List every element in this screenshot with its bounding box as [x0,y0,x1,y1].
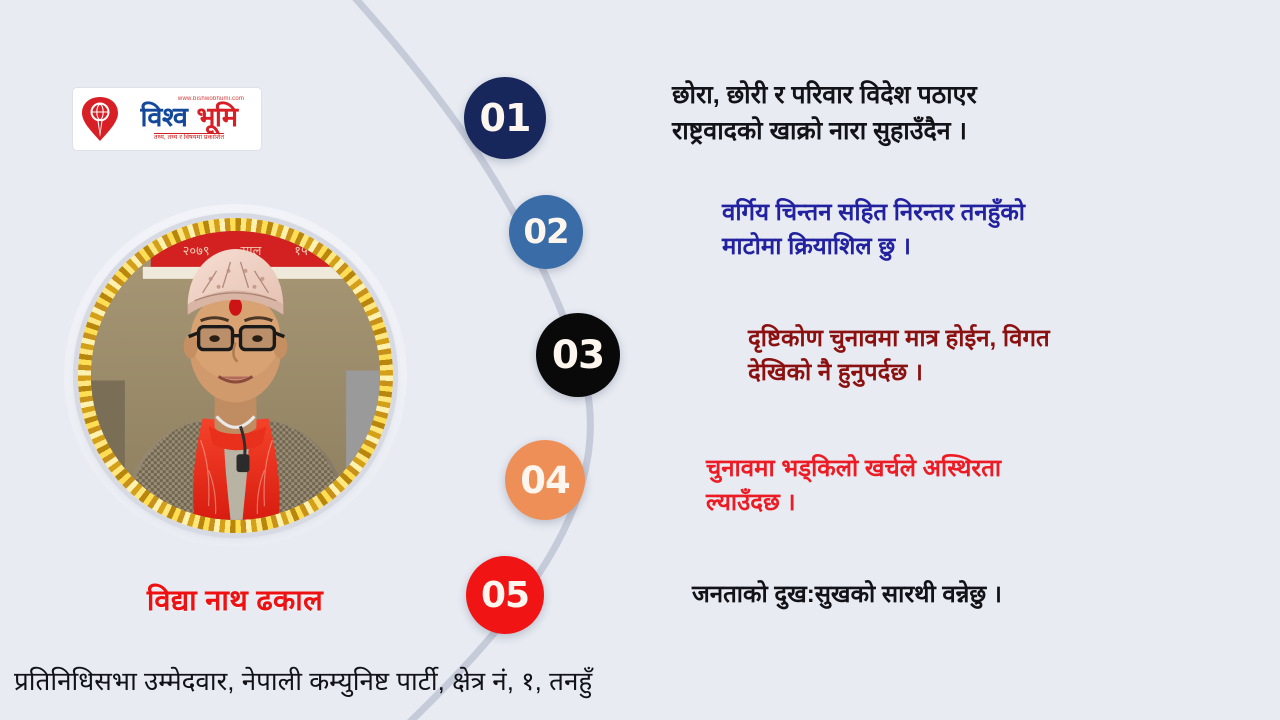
logo-globe-pen-icon [79,95,121,143]
statement-line-1: चुनावमा भड्किलो खर्चले अस्थिरता [706,452,1001,486]
statement-01: छोरा, छोरी र परिवार विदेश पठाएरराष्ट्रवा… [672,78,977,149]
timeline-node-03[interactable]: 03 [536,313,620,397]
statement-04: चुनावमा भड्किलो खर्चले अस्थिरताल्याउँदछ … [706,452,1001,520]
statement-line-2: राष्ट्रवादको खाक्रो नारा सुहाउँदैन । [672,114,977,150]
candidate-photo: २०७९साल१५ [91,231,380,520]
statement-03: दृष्टिकोण चुनावमा मात्र होईन, विगतदेखिको… [748,322,1050,390]
statement-line-2: देखिको नै हुनुपर्दछ । [748,356,1050,390]
site-logo[interactable]: www.bishwobhumi.com विश्व भूमि तथ्य, तथ्… [73,88,261,150]
timeline-node-label: 02 [523,212,568,252]
statement-line-1: छोरा, छोरी र परिवार विदेश पठाएर [672,78,977,114]
timeline-node-04[interactable]: 04 [505,440,585,520]
statement-line-1: वर्गिय चिन्तन सहित निरन्तर तनहुँको [722,196,1025,230]
logo-word-bhumi: भूमि [196,104,237,131]
timeline-node-label: 05 [481,575,529,616]
logo-url: www.bishwobhumi.com [178,96,244,104]
statement-05: जनताको दुख:सुखको सारथी वन्नेछु । [692,578,1002,612]
statement-line-1: जनताको दुख:सुखको सारथी वन्नेछु । [692,578,1002,612]
timeline-node-05[interactable]: 05 [466,556,544,634]
timeline-node-01[interactable]: 01 [464,77,546,159]
infographic-canvas: www.bishwobhumi.com विश्व भूमि तथ्य, तथ्… [0,0,1280,720]
logo-word-bishwo: विश्व [140,104,187,131]
candidate-portrait: २०७९साल१५ [78,218,393,533]
timeline-node-label: 01 [480,96,531,140]
logo-tagline: तथ्य, तथ्य र विषयमा प्रकाशित [154,133,224,142]
statement-line-2: माटोमा क्रियाशिल छु । [722,230,1025,264]
timeline-node-label: 04 [520,459,570,502]
candidate-designation: प्रतिनिधिसभा उम्मेदवार, नेपाली कम्युनिष्… [14,662,592,698]
candidate-name: विद्या नाथ ढकाल [0,580,470,619]
statement-02: वर्गिय चिन्तन सहित निरन्तर तनहुँकोमाटोमा… [722,196,1025,264]
portrait-photo-frame: २०७९साल१५ [91,231,380,520]
statement-line-2: ल्याउँदछ । [706,486,1001,520]
timeline-node-label: 03 [552,333,604,378]
svg-text:१५: १५ [294,244,308,259]
svg-text:२०७९: २०७९ [183,244,210,259]
statement-line-1: दृष्टिकोण चुनावमा मात्र होईन, विगत [748,322,1050,356]
timeline-node-02[interactable]: 02 [509,195,583,269]
